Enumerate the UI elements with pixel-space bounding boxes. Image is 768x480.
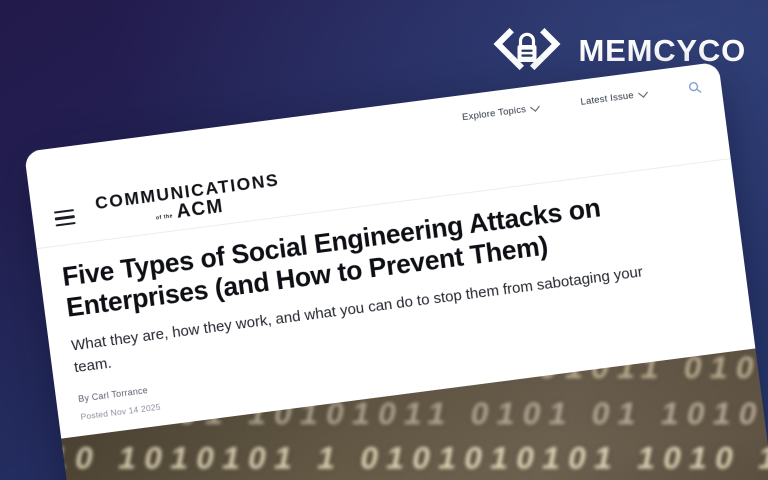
nav-item-latest-issue-label: Latest Issue bbox=[580, 90, 635, 108]
article-card-surface: Explore Topics Latest Issue COM bbox=[24, 62, 768, 480]
bracket-padlock-icon bbox=[490, 24, 564, 76]
brand-name: MEMCYCO bbox=[579, 35, 747, 66]
promo-graphic: MEMCYCO Featured in Explore Topics Lates… bbox=[0, 0, 768, 480]
chevron-down-icon bbox=[638, 87, 648, 97]
nav-item-latest-issue[interactable]: Latest Issue bbox=[580, 88, 647, 107]
acm-logo-acm: ACM bbox=[175, 197, 225, 222]
article-card: Explore Topics Latest Issue COM bbox=[24, 62, 768, 480]
nav-item-explore-topics[interactable]: Explore Topics bbox=[461, 102, 539, 123]
hamburger-menu-icon[interactable] bbox=[54, 209, 76, 226]
nav-item-explore-topics-label: Explore Topics bbox=[461, 104, 526, 123]
acm-logo-ofthe: of the bbox=[156, 215, 174, 225]
search-icon[interactable] bbox=[687, 80, 702, 95]
chevron-down-icon bbox=[530, 101, 540, 111]
